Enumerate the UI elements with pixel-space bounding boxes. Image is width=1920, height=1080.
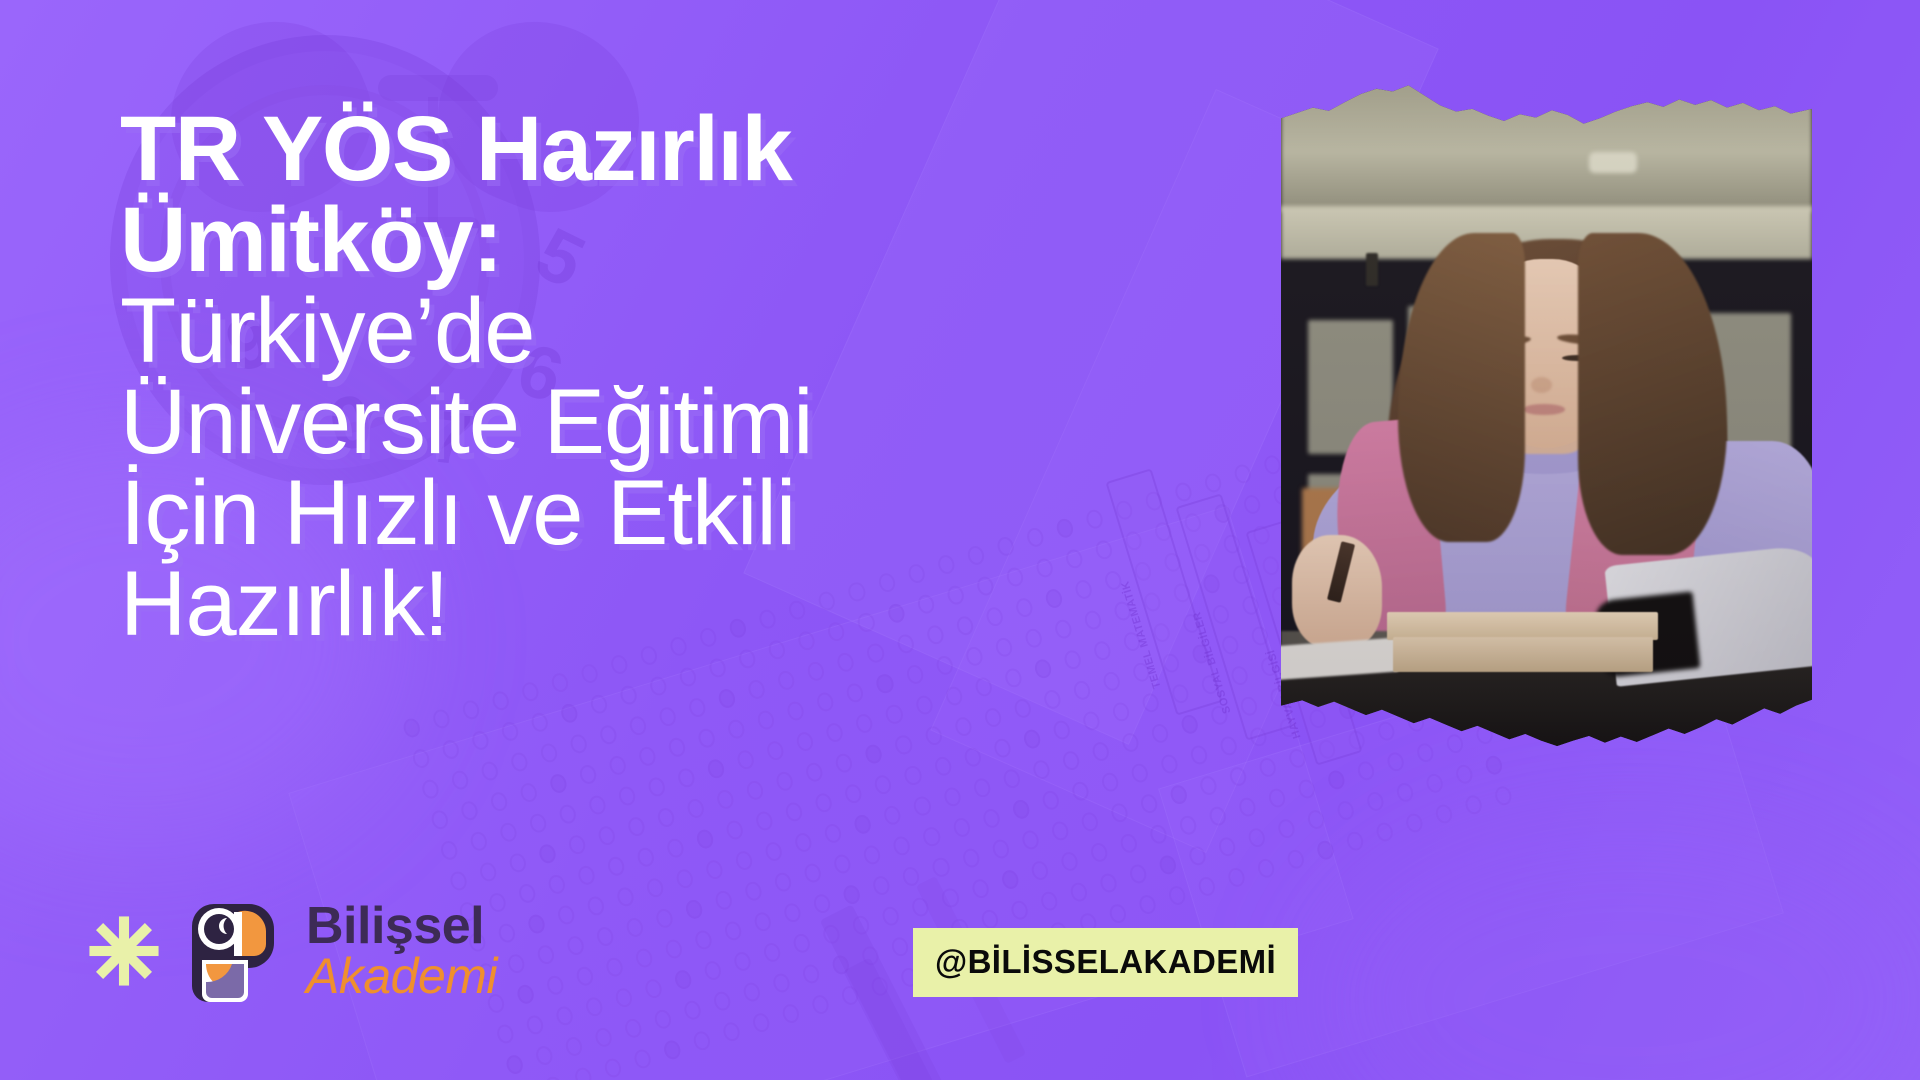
answer-bubble [1020,829,1041,852]
answer-bubble [1187,844,1208,867]
answer-bubble [842,883,863,906]
answer-bubble [1003,667,1024,690]
answer-bubble [1242,493,1263,516]
answer-bubble [536,943,557,966]
answer-bubble [981,807,1002,830]
answer-bubble [815,690,836,713]
answer-bubble [526,913,547,936]
answer-bubble [853,813,874,836]
answer-bubble [882,804,903,827]
answer-bubble [1098,872,1119,895]
answer-bubble [754,809,775,832]
answer-bubble [1012,697,1033,720]
answer-bubble [1454,763,1475,786]
answer-bubble [554,1004,575,1027]
answer-bubble [654,907,675,930]
answer-bubble [1107,902,1128,925]
answer-bubble [737,647,758,670]
answer-bubble [1345,830,1366,853]
answer-bubble [468,830,489,853]
answer-bubble [607,754,628,777]
answer-bubble [1296,778,1317,801]
answer-bubble [587,794,608,817]
answer-bubble [618,684,639,707]
answer-bubble [1444,732,1465,755]
owl-p-mascot-icon [186,898,280,1004]
answer-bubble [1188,744,1209,767]
answer-bubble [785,699,806,722]
answer-bubble [664,938,685,961]
answer-bubble [1099,771,1120,794]
answer-bubble [1029,859,1050,882]
answer-bubble [881,905,902,928]
answer-bubble [890,935,911,958]
answer-bubble [478,860,499,883]
answer-bubble [1148,823,1169,846]
answer-bubble [1434,802,1455,825]
answer-bubble [579,662,600,685]
answer-bubble [854,712,875,735]
answer-bubble [904,663,925,686]
answer-bubble [450,769,471,792]
answer-bubble [806,660,827,683]
answer-bubble [717,687,738,710]
answer-bubble [703,959,724,982]
answer-bubble [1110,701,1131,724]
answer-bubble [586,894,607,917]
answer-bubble [489,790,510,813]
answer-bubble [773,871,794,894]
answer-bubble [934,654,955,677]
answer-bubble [657,705,678,728]
answer-bubble [606,855,627,878]
answer-bubble [686,797,707,820]
answer-bubble [632,1047,653,1070]
answer-bubble [665,837,686,860]
answer-bubble [742,981,763,1004]
answer-bubble [525,1013,546,1036]
answer-bubble [440,738,461,761]
subject-nose [1531,377,1552,393]
answer-bubble [990,838,1011,861]
answer-bubble [626,815,647,838]
answer-bubble [1196,875,1217,898]
answer-bubble [564,1035,585,1058]
answer-bubble [931,856,952,879]
answer-bubble [1159,753,1180,776]
answer-bubble [461,698,482,721]
answer-bubble [615,885,636,908]
answer-bubble [567,833,588,856]
answer-bubble [1001,767,1022,790]
answer-bubble [792,932,813,955]
answer-bubble [835,651,856,674]
answer-bubble [1173,481,1194,504]
answer-bubble [1285,848,1306,871]
answer-bubble [781,1002,802,1025]
answer-bubble [1207,805,1228,828]
answer-bubble [871,874,892,897]
answer-bubble [695,828,716,851]
answer-bubble [765,739,786,762]
answer-bubble [595,925,616,948]
answer-bubble [970,877,991,900]
answer-bubble [1010,798,1031,821]
answer-bubble [431,707,452,730]
answer-bubble [684,898,705,921]
answer-bubble [584,995,605,1018]
answer-bubble [732,950,753,973]
answer-bubble [614,986,635,1009]
wall-switch-icon [1366,253,1378,287]
answer-bubble [509,751,530,774]
answer-bubble [1335,799,1356,822]
book-stack-bottom [1393,637,1653,672]
answer-bubble [812,892,833,915]
headline-line-4: Üniversite Eğitimi [120,377,1130,468]
answer-bubble [1463,793,1484,816]
answer-bubble [1062,648,1083,671]
answer-bubble [507,851,528,874]
answer-bubble [1021,728,1042,751]
answer-bubble [634,947,655,970]
answer-bubble [1355,759,1376,782]
answer-bubble [971,776,992,799]
answer-bubble [1415,741,1436,764]
answer-bubble [1079,810,1100,833]
answer-bubble [575,965,596,988]
answer-bubble [795,730,816,753]
answer-bubble [843,782,864,805]
hero-photo [1281,78,1812,750]
hero-photo-image [1281,78,1812,750]
answer-bubble [704,858,725,881]
answer-bubble [784,800,805,823]
answer-bubble [617,784,638,807]
answer-bubble [604,956,625,979]
answer-bubble [960,847,981,870]
answer-bubble [675,867,696,890]
answer-bubble [539,741,560,764]
answer-bubble [1038,890,1059,913]
answer-bubble [921,825,942,848]
answer-bubble [992,737,1013,760]
answer-bubble [736,748,757,771]
answer-bubble [653,1008,674,1031]
answer-bubble [1120,731,1141,754]
answer-bubble [715,788,736,811]
headline-line-1: TR YÖS Hazırlık [120,104,1130,195]
answer-bubble [490,689,511,712]
answer-bubble [673,968,694,991]
answer-bubble [745,779,766,802]
answer-bubble [576,864,597,887]
headline-line-2: Ümitköy: [120,195,1130,286]
answer-bubble [892,834,913,857]
answer-bubble [1032,657,1053,680]
answer-bubble [623,1017,644,1040]
answer-bubble [1129,762,1150,785]
answer-bubble [1257,756,1278,779]
answer-bubble [517,882,538,905]
answer-bubble [682,999,703,1022]
answer-bubble [834,752,855,775]
answer-bubble [723,919,744,942]
answer-bubble [1218,735,1239,758]
answer-bubble [726,718,747,741]
answer-bubble [845,681,866,704]
answer-bubble [515,983,536,1006]
answer-bubble [1198,774,1219,797]
answer-bubble [1424,772,1445,795]
answer-bubble [548,772,569,795]
answer-bubble [884,703,905,726]
answer-bubble [823,822,844,845]
answer-bubble [751,1011,772,1034]
answer-bubble [912,795,933,818]
answer-bubble [1404,812,1425,835]
answer-bubble [603,1057,624,1080]
answer-bubble [999,868,1020,891]
answer-bubble [1255,857,1276,880]
answer-bubble [645,876,666,899]
answer-bubble [1157,854,1178,877]
answer-bubble [932,755,953,778]
answer-bubble [568,732,589,755]
answer-bubble [893,733,914,756]
answer-bubble [593,1026,614,1049]
answer-bubble [864,743,885,766]
answer-bubble [573,1066,594,1080]
answer-bubble [609,653,630,676]
headline-line-5: İçin Hızlı ve Etkili [120,468,1130,559]
answer-bubble [1042,688,1063,711]
answer-bubble [1203,472,1224,495]
answer-bubble [598,723,619,746]
answer-bubble [498,821,519,844]
answer-bubble [676,766,697,789]
answer-bubble [678,665,699,688]
answer-bubble [1101,670,1122,693]
answer-bubble [1168,783,1189,806]
answer-bubble [1374,821,1395,844]
answer-bubble [712,990,733,1013]
answer-bubble [1071,679,1092,702]
answer-bubble [1177,814,1198,837]
answer-bubble [1226,866,1247,889]
answer-bubble [1266,787,1287,810]
answer-bubble [725,818,746,841]
answer-bubble [662,1038,683,1061]
answer-bubble [1376,720,1397,743]
answer-bubble [1118,832,1139,855]
promo-banner-canvas: 9 0 7 6 5 TEMEL MATEMATİK SOSYAL BİLGİLE… [0,0,1920,1080]
subject-lips [1523,404,1565,415]
headline-line-3: Türkiye’de [120,286,1130,377]
answer-bubble [706,757,727,780]
answer-bubble [565,934,586,957]
answer-bubble [1059,850,1080,873]
answer-bubble [459,799,480,822]
answer-bubble [1237,796,1258,819]
answer-bubble [506,952,527,975]
ceiling-lamp-icon [1589,152,1637,174]
answer-bubble [500,720,521,743]
headline-line-6: Hazırlık! [120,559,1130,650]
answer-bubble [546,873,567,896]
answer-bubble [1365,790,1386,813]
answer-bubble [903,764,924,787]
answer-bubble [803,862,824,885]
answer-bubble [692,1029,713,1052]
answer-bubble [782,901,803,924]
answer-bubble [656,806,677,829]
answer-bubble [557,803,578,826]
answer-bubble [762,941,783,964]
answer-bubble [771,971,792,994]
answer-bubble [1305,808,1326,831]
answer-bubble [1179,713,1200,736]
answer-bubble [1040,789,1061,812]
answer-bubble [832,852,853,875]
answer-bubble [643,977,664,1000]
answer-bubble [743,880,764,903]
brand-logo[interactable]: Bilişsel Akademi [88,898,497,1004]
answer-bubble [646,775,667,798]
answer-bubble [1049,820,1070,843]
answer-bubble [1166,884,1187,907]
answer-bubble [1216,835,1237,858]
answer-bubble [714,889,735,912]
answer-bubble [556,904,577,927]
answer-bubble [776,669,797,692]
answer-bubble [801,962,822,985]
answer-bubble [529,711,550,734]
answer-bubble [559,702,580,725]
answer-bubble [1149,722,1170,745]
answer-bubble [914,694,935,717]
answer-bubble [543,1075,564,1080]
answer-bubble [810,993,831,1016]
answer-bubble [625,916,646,939]
answer-bubble [628,714,649,737]
answer-bubble [1090,740,1111,763]
answer-bubble [687,696,708,719]
answer-bubble [1088,841,1109,864]
answer-bubble [973,676,994,699]
answer-bubble [1031,758,1052,781]
answer-bubble [1394,781,1415,804]
answer-bubble [734,849,755,872]
answer-bubble [875,672,896,695]
answer-bubble [1109,801,1130,824]
answer-bubble [951,816,972,839]
page-title: TR YÖS Hazırlık Ümitköy: Türkiye’de Üniv… [120,104,1130,650]
answer-bubble [637,745,658,768]
answer-bubble [479,760,500,783]
answer-bubble [528,812,549,835]
answer-bubble [550,671,571,694]
answer-bubble [1385,750,1406,773]
answer-bubble [707,656,728,679]
answer-bubble [1140,691,1161,714]
answer-bubble [667,736,688,759]
answer-bubble [648,675,669,698]
answer-bubble [1246,826,1267,849]
answer-bubble [1232,462,1253,485]
answer-bubble [1081,710,1102,733]
answer-bubble [696,727,717,750]
answer-bubble [636,846,657,869]
answer-bubble [496,922,517,945]
answer-bubble [1315,839,1336,862]
answer-bubble [1070,780,1091,803]
answer-bubble [578,763,599,786]
answer-bubble [1060,749,1081,772]
answer-bubble [693,928,714,951]
answer-bubble [962,746,983,769]
answer-bubble [1287,747,1308,770]
answer-bubble [814,791,835,814]
brand-name-primary: Bilişsel [306,902,497,951]
answer-bubble [1137,893,1158,916]
answer-bubble [1051,719,1072,742]
answer-bubble [753,910,774,933]
answer-bubble [764,840,785,863]
brand-wordmark: Bilişsel Akademi [306,902,497,1000]
answer-bubble [862,843,883,866]
answer-bubble [793,831,814,854]
answer-bubble [873,773,894,796]
answer-bubble [1138,792,1159,815]
answer-bubble [534,1044,555,1067]
answer-bubble [470,729,491,752]
answer-bubble [537,842,558,865]
answer-bubble [804,761,825,784]
answer-bubble [518,781,539,804]
answer-bubble [1262,453,1283,476]
answer-bubble [943,685,964,708]
answer-bubble [589,693,610,716]
answer-bubble [775,770,796,793]
answer-bubble [756,709,777,732]
answer-bubble [1326,769,1347,792]
brand-name-secondary: Akademi [306,953,497,1000]
answer-bubble [825,721,846,744]
social-handle-badge[interactable]: @BİLİSSELAKADEMİ [913,928,1298,997]
answer-bubble [721,1020,742,1043]
answer-bubble [1009,899,1030,922]
answer-bubble [923,724,944,747]
answer-bubble [596,824,617,847]
answer-bubble [982,706,1003,729]
answer-bubble [953,715,974,738]
answer-bubble [1227,765,1248,788]
answer-bubble [746,678,767,701]
answer-bubble [1068,881,1089,904]
answer-bubble [1276,817,1297,840]
answer-bubble [545,974,566,997]
eight-point-star-icon [88,915,160,987]
answer-bubble [942,786,963,809]
answer-bubble [1127,863,1148,886]
answer-bubble [520,680,541,703]
